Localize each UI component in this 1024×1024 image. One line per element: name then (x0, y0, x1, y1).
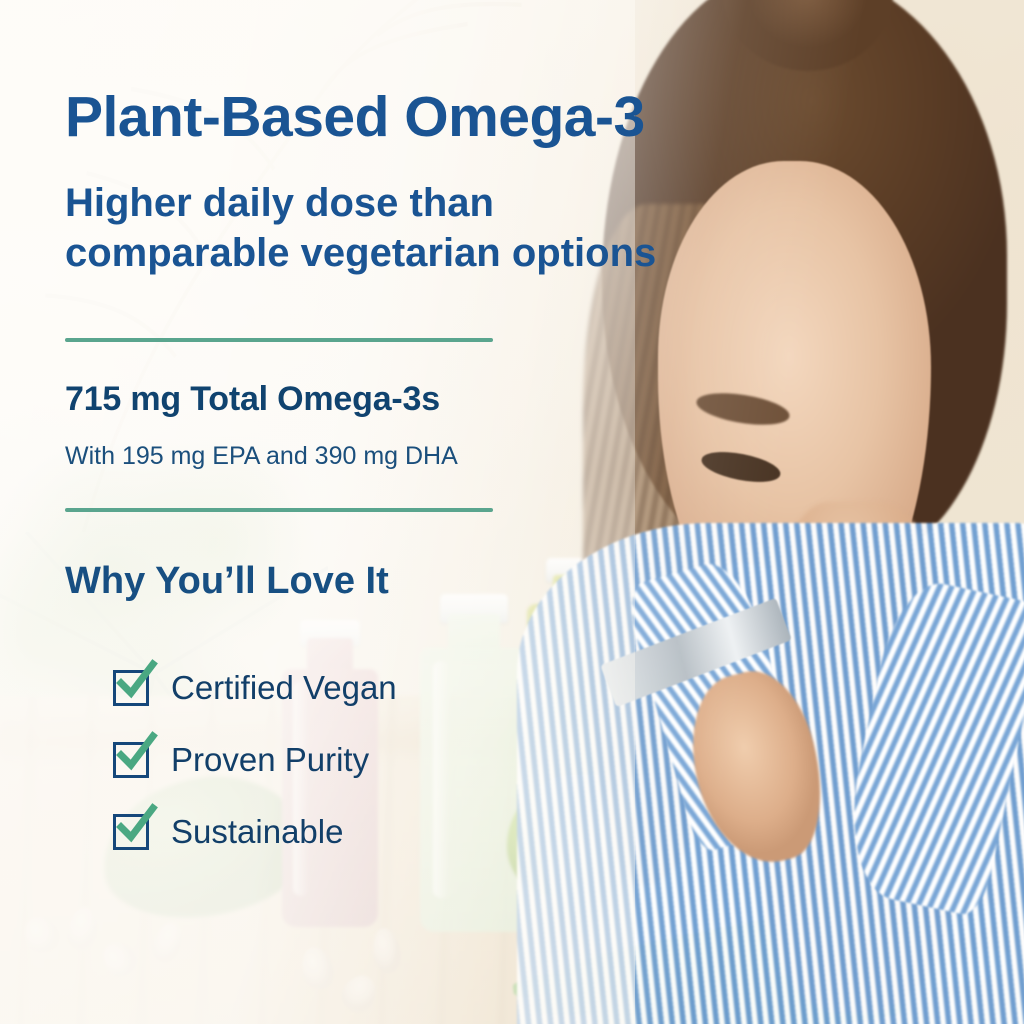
benefit-label: Certified Vegan (171, 669, 397, 707)
list-item: Certified Vegan (113, 652, 397, 724)
dose-detail: With 195 mg EPA and 390 mg DHA (65, 442, 458, 471)
subheadline-line-2: comparable vegetarian options (65, 228, 665, 278)
benefit-label: Proven Purity (171, 741, 369, 779)
product-banner: Plant-Based Omega-3 Higher daily dose th… (0, 0, 1024, 1024)
checkbox-checked-icon (113, 670, 149, 706)
list-item: Proven Purity (113, 724, 397, 796)
list-item: Sustainable (113, 796, 397, 868)
text-panel: Plant-Based Omega-3 Higher daily dose th… (65, 0, 665, 1024)
subheadline-line-1: Higher daily dose than (65, 178, 665, 228)
divider-bottom (65, 508, 493, 512)
benefits-list: Certified Vegan Proven Purity Sustainabl… (113, 652, 397, 868)
page-title: Plant-Based Omega-3 (65, 88, 645, 147)
dose-headline: 715 mg Total Omega-3s (65, 380, 440, 419)
checkbox-checked-icon (113, 814, 149, 850)
subheadline: Higher daily dose than comparable vegeta… (65, 178, 665, 279)
checkbox-checked-icon (113, 742, 149, 778)
benefits-title: Why You’ll Love It (65, 560, 389, 603)
divider-top (65, 338, 493, 342)
benefit-label: Sustainable (171, 813, 343, 851)
